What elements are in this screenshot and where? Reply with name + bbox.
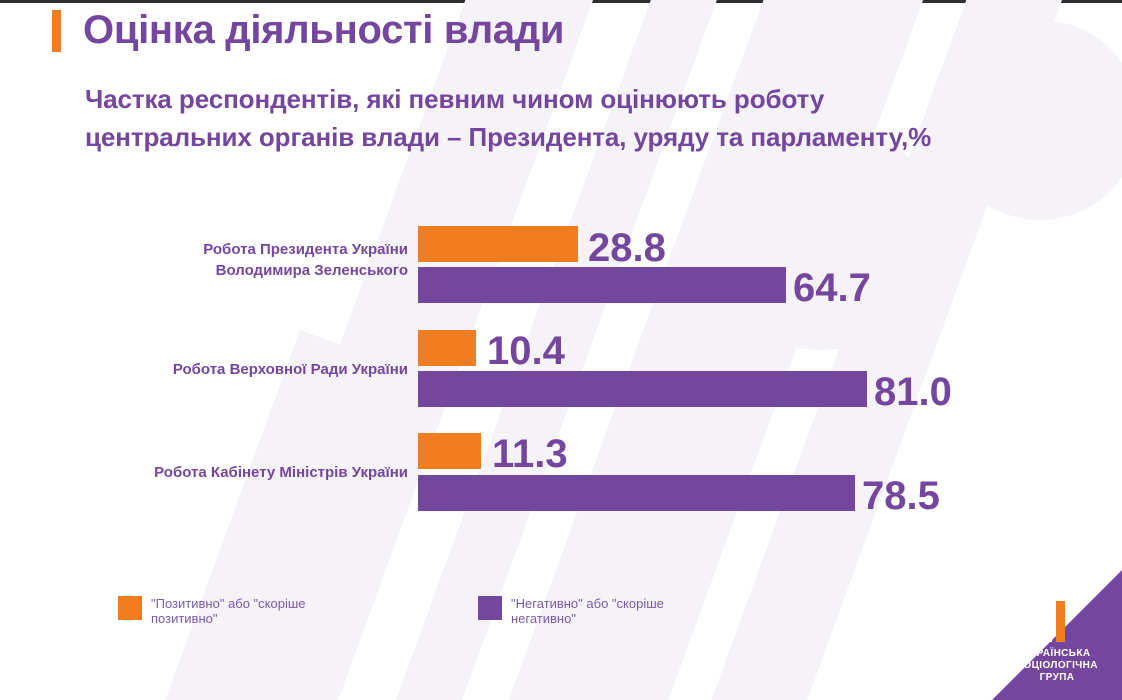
bar-negative [418,267,786,303]
legend-label-negative: "Негативно" або "скоріше негативно" [511,596,691,626]
logo-bars-icon [1030,601,1065,642]
bar-negative [418,371,867,407]
bar-value-negative: 81.0 [874,372,952,412]
bar-positive [418,226,578,262]
chart-category-label: Робота Верховної Ради України [118,359,408,380]
legend-label-positive: "Позитивно" або "скоріше позитивно" [151,596,331,626]
legend-label-line: негативно" [511,611,576,626]
bar-value-negative: 78.5 [862,476,940,516]
bar-negative [418,475,855,511]
logo-text-line-2: СОЦІОЛОГІЧНА [992,660,1122,672]
slide-canvas: Оцінка діяльності влади Частка респонден… [0,0,1122,700]
logo-bar-2 [1043,611,1052,642]
category-label-line: Робота Верховної Ради України [118,359,408,380]
logo-bar-1 [1030,620,1039,642]
bar-value-positive: 11.3 [492,434,568,474]
chart-category-label: Робота Президента України Володимира Зел… [118,239,408,281]
logo-bar-3 [1056,601,1065,642]
chart-legend: "Позитивно" або "скоріше позитивно" "Нег… [118,596,691,626]
legend-item-negative[interactable]: "Негативно" або "скоріше негативно" [478,596,691,626]
legend-swatch-positive-icon [118,596,142,620]
bar-positive [418,330,476,366]
logo-text-line-3: ГРУПА [992,672,1122,684]
brand-logo: УКРАЇНСЬКА СОЦІОЛОГІЧНА ГРУПА [992,570,1122,700]
legend-swatch-negative-icon [478,596,502,620]
category-label-line: Володимира Зеленського [118,260,408,281]
category-label-line: Робота Президента України [118,239,408,260]
legend-label-line: "Негативно" або "скоріше [511,596,664,611]
bar-value-negative: 64.7 [793,268,871,308]
bar-value-positive: 28.8 [588,228,666,268]
bar-chart: Робота Президента України Володимира Зел… [0,0,1122,700]
legend-item-positive[interactable]: "Позитивно" або "скоріше позитивно" [118,596,331,626]
logo-text-line-1: УКРАЇНСЬКА [992,648,1122,660]
legend-label-line: "Позитивно" або "скоріше [151,596,306,611]
bar-value-positive: 10.4 [487,331,565,371]
chart-category-label: Робота Кабінету Міністрів України [118,462,408,483]
logo-text: УКРАЇНСЬКА СОЦІОЛОГІЧНА ГРУПА [992,648,1122,684]
category-label-line: Робота Кабінету Міністрів України [118,462,408,483]
bar-positive [418,433,481,469]
legend-label-line: позитивно" [151,611,218,626]
